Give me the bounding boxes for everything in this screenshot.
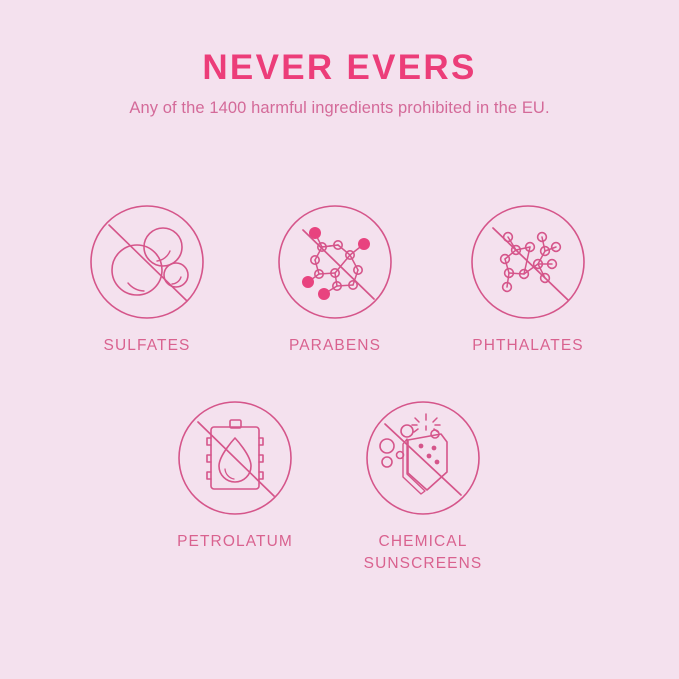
- page-title: NEVER EVERS: [0, 47, 679, 89]
- no-parabens-molecule-icon: [275, 202, 395, 322]
- no-chemical-sunscreens-icon: [363, 398, 483, 518]
- item-phthalates: PHTHALATES: [453, 202, 603, 357]
- item-label: PETROLATUM: [160, 531, 310, 553]
- no-sulfates-bubbles-icon: [87, 202, 207, 322]
- item-label: SULFATES: [72, 335, 222, 357]
- no-phthalates-molecule-icon: [468, 202, 588, 322]
- item-label: PHTHALATES: [453, 335, 603, 357]
- item-label: PARABENS: [260, 335, 410, 357]
- page-subtitle: Any of the 1400 harmful ingredients proh…: [0, 96, 679, 120]
- no-petrolatum-barrel-icon: [175, 398, 295, 518]
- item-sulfates: SULFATES: [72, 202, 222, 357]
- item-chemical-sunscreens: CHEMICAL SUNSCREENS: [348, 398, 498, 575]
- item-petrolatum: PETROLATUM: [160, 398, 310, 553]
- item-parabens: PARABENS: [260, 202, 410, 357]
- never-evers-graphic: NEVER EVERS Any of the 1400 harmful ingr…: [0, 0, 679, 679]
- item-label: CHEMICAL SUNSCREENS: [348, 531, 498, 575]
